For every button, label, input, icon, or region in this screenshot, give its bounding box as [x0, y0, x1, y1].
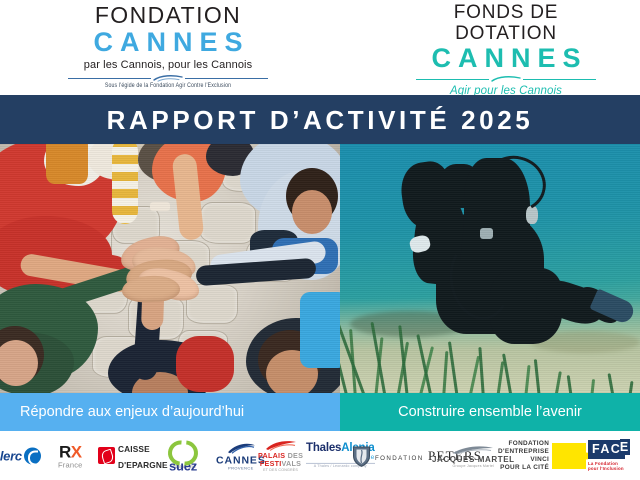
sponsor-face[interactable]: FAC E La Fondation pour l'Inclusion [588, 440, 625, 472]
photo-diver-canvas [340, 144, 640, 393]
page-title: RAPPORT D’ACTIVITÉ 2025 [107, 106, 534, 134]
jacques-martel-swoosh-icon [451, 442, 495, 453]
sponsor-logo-row: aclerc RX France CAISSE D'EPARGNE Côte d… [0, 431, 640, 480]
fondation-logo-mention: Sous l'égide de la Fondation Agir Contre… [68, 83, 268, 90]
fonds-logo-cannes: CANNES [416, 44, 596, 73]
sponsor-suez[interactable]: suez [168, 439, 198, 472]
sponsor-caisse-line1: CAISSE [118, 444, 150, 454]
photo-scuba-diver-seagrass [340, 144, 640, 393]
fondation-cannes-logo: FONDATION CANNES par les Cannois, pour l… [68, 2, 268, 89]
wave-icon [151, 74, 185, 82]
fondation-logo-cannes: CANNES [68, 28, 268, 57]
sponsor-rx-france-mark: RX [58, 443, 83, 460]
sponsor-vinci-line3: VINCI [498, 456, 549, 464]
sponsor-face-tagline-line2: pour l'Inclusion [588, 466, 624, 471]
wave-icon [489, 75, 523, 83]
sponsor-rx-france-sub: France [58, 461, 83, 469]
fondation-logo-rule [68, 74, 268, 82]
sponsor-fondation-vinci[interactable]: FONDATION D'ENTREPRISE VINCI POUR LA CIT… [498, 440, 586, 472]
suez-ribbon-icon [168, 439, 198, 458]
sponsor-rx-r: R [59, 442, 71, 461]
cannes-palm-icon [226, 441, 256, 454]
sponsor-e-leclerc[interactable]: aclerc [0, 447, 41, 464]
sponsor-vinci-line1: FONDATION [498, 440, 549, 448]
sponsor-face-box: FAC E [588, 440, 625, 459]
sponsor-vinci-line2: D'ENTREPRISE [498, 448, 549, 456]
fonds-logo-line1: FONDS DE [416, 2, 596, 23]
fonds-logo-line2: DOTATION [416, 23, 596, 44]
fonds-logo-rule [416, 75, 596, 83]
vinci-yellow-block-icon [552, 443, 586, 469]
photo-hands-canvas [0, 144, 340, 393]
sponsor-caisse-line2: D'EPARGNE [118, 460, 168, 470]
caption-right: Construire ensemble l’avenir [340, 393, 640, 431]
palais-wave-icon [265, 438, 297, 450]
sponsor-rx-france[interactable]: RX France [58, 443, 83, 469]
sponsor-face-label-end: E [620, 439, 630, 456]
logo-band: FONDATION CANNES par les Cannois, pour l… [0, 0, 640, 95]
caption-left-text: Répondre aux enjeux d’aujourd’hui [20, 404, 244, 420]
sponsor-palais-des-festivals[interactable]: PALAIS DES FESTIVALS ET DES CONGRÈS [258, 438, 303, 472]
peters-shield-icon [352, 445, 371, 467]
report-cover-page: FONDATION CANNES par les Cannois, pour l… [0, 0, 640, 480]
sponsor-face-tagline-line1: La Fondation [588, 461, 618, 466]
sponsor-thales-thales: Thales [306, 441, 341, 453]
leclerc-roundel-icon [24, 447, 41, 464]
fondation-logo-tagline: par les Cannois, pour les Cannois [68, 58, 268, 72]
sponsor-rx-x: X [71, 442, 82, 461]
sponsor-vinci-line4: POUR LA CITÉ [498, 464, 549, 472]
sponsor-palais-line2-b: VALS [282, 458, 302, 467]
fonds-de-dotation-cannes-logo: FONDS DE DOTATION CANNES Agir pour les C… [416, 2, 596, 98]
photo-hands-together [0, 144, 340, 393]
fondation-logo-line1: FONDATION [68, 2, 268, 28]
sponsor-e-leclerc-label: aclerc [0, 449, 22, 462]
sponsor-palais-line3: ET DES CONGRÈS [258, 469, 303, 473]
caption-left: Répondre aux enjeux d’aujourd’hui [0, 393, 340, 431]
sponsor-peters-line1: FONDATION [375, 455, 424, 462]
sponsor-palais-line2-a: FESTI [260, 458, 282, 467]
title-banner: RAPPORT D’ACTIVITÉ 2025 [0, 95, 640, 144]
photo-strip [0, 144, 640, 393]
sponsor-face-tagline: La Fondation pour l'Inclusion [588, 461, 625, 472]
caption-bars: Répondre aux enjeux d’aujourd’hui Constr… [0, 393, 640, 431]
sponsor-face-label: FAC [592, 443, 621, 456]
sponsor-palais-line2: FESTIVALS [258, 459, 303, 467]
caption-right-text: Construire ensemble l’avenir [398, 404, 582, 420]
caisse-squirrel-icon [98, 447, 115, 464]
